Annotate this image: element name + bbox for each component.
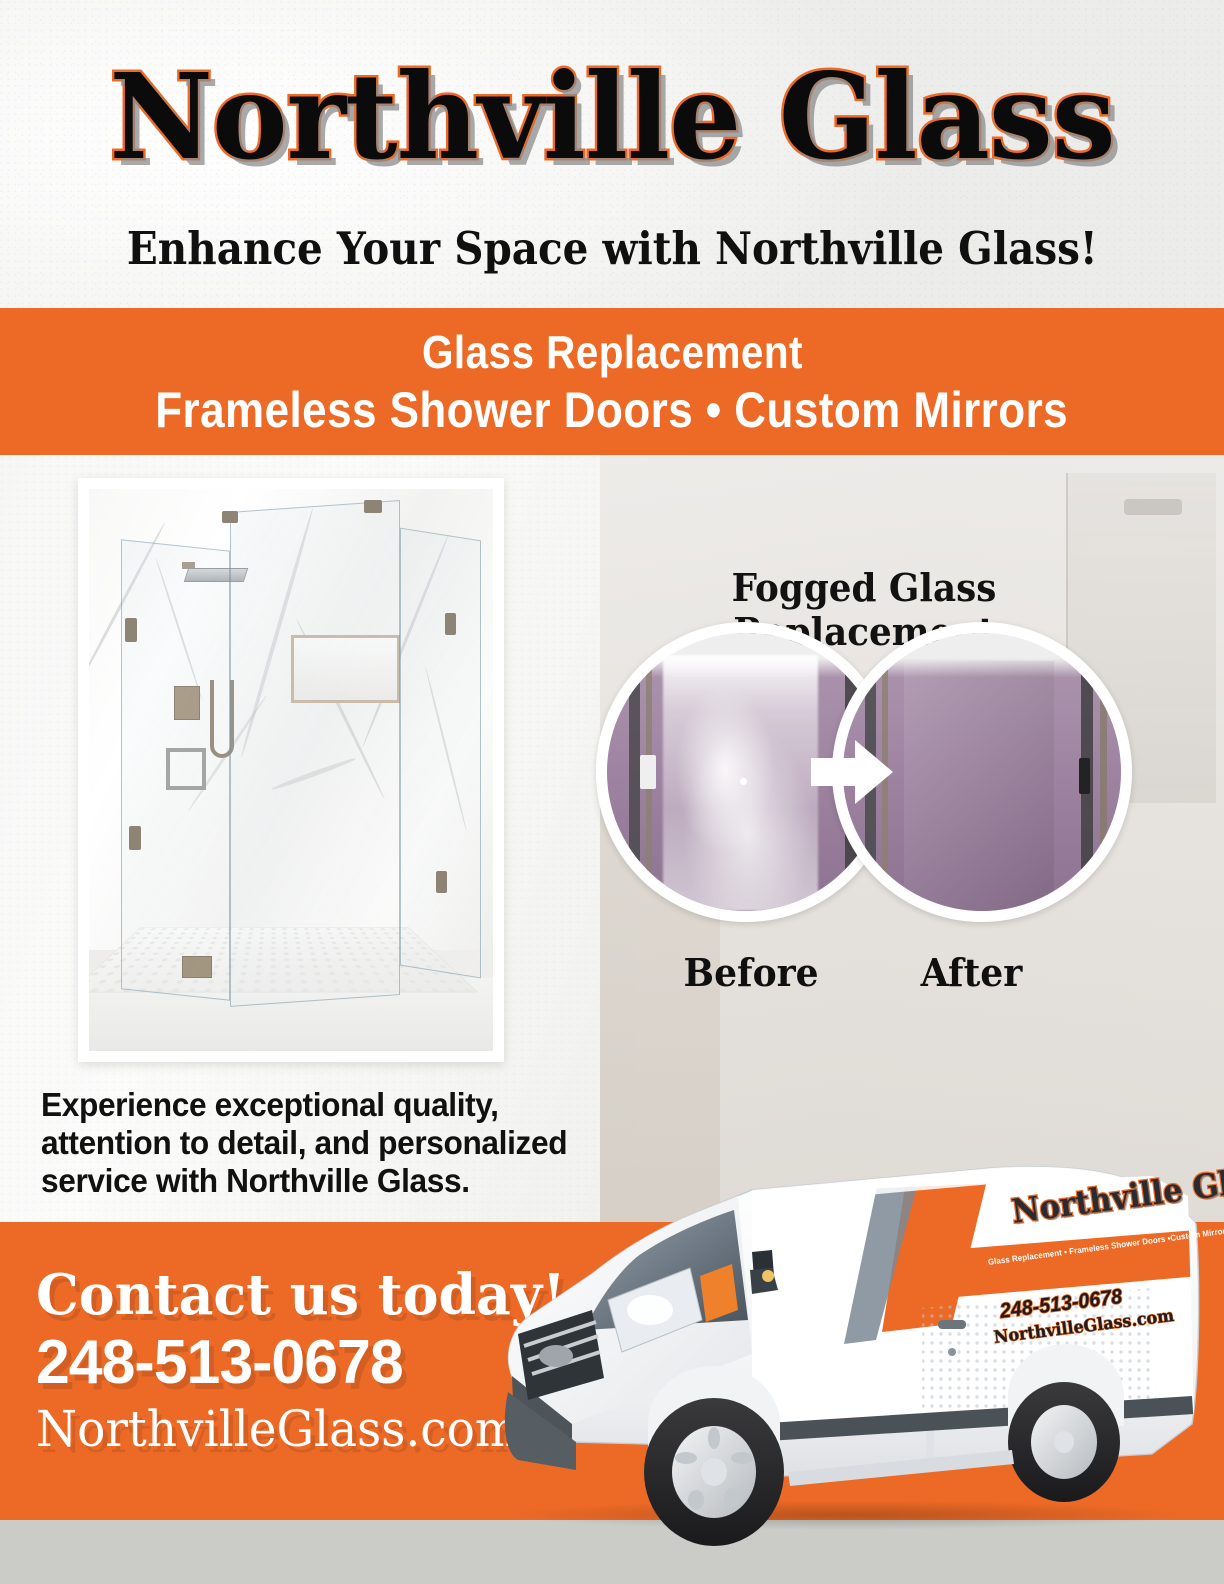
page-title: Northville Glass bbox=[0, 58, 1224, 176]
glass-panel-right bbox=[400, 528, 481, 979]
body-copy-line-1: Experience exceptional quality, bbox=[41, 1086, 636, 1124]
glass-panel-center bbox=[230, 500, 400, 1006]
shower-photo bbox=[89, 489, 493, 1051]
right-arrow-icon bbox=[811, 734, 893, 810]
company-title: Northville Glass bbox=[24, 58, 1199, 176]
flyer-page: Northville Glass Enhance Your Space with… bbox=[0, 0, 1224, 1584]
after-label: After bbox=[921, 950, 1023, 996]
tagline-text: Enhance Your Space with Northville Glass… bbox=[127, 224, 1098, 274]
tagline: Enhance Your Space with Northville Glass… bbox=[0, 224, 1224, 274]
ghost-shower-head-icon bbox=[1124, 499, 1182, 515]
before-label: Before bbox=[684, 950, 819, 996]
shower-photo-frame bbox=[78, 478, 504, 1062]
services-banner: Glass Replacement Frameless Shower Doors… bbox=[0, 308, 1224, 455]
services-line-1: Glass Replacement bbox=[422, 324, 803, 380]
glass-panel-left bbox=[121, 539, 230, 1000]
before-after-labels: Before After bbox=[596, 950, 1136, 1000]
services-line-2: Frameless Shower Doors • Custom Mirrors bbox=[156, 380, 1069, 440]
before-after-circles bbox=[596, 622, 1136, 922]
